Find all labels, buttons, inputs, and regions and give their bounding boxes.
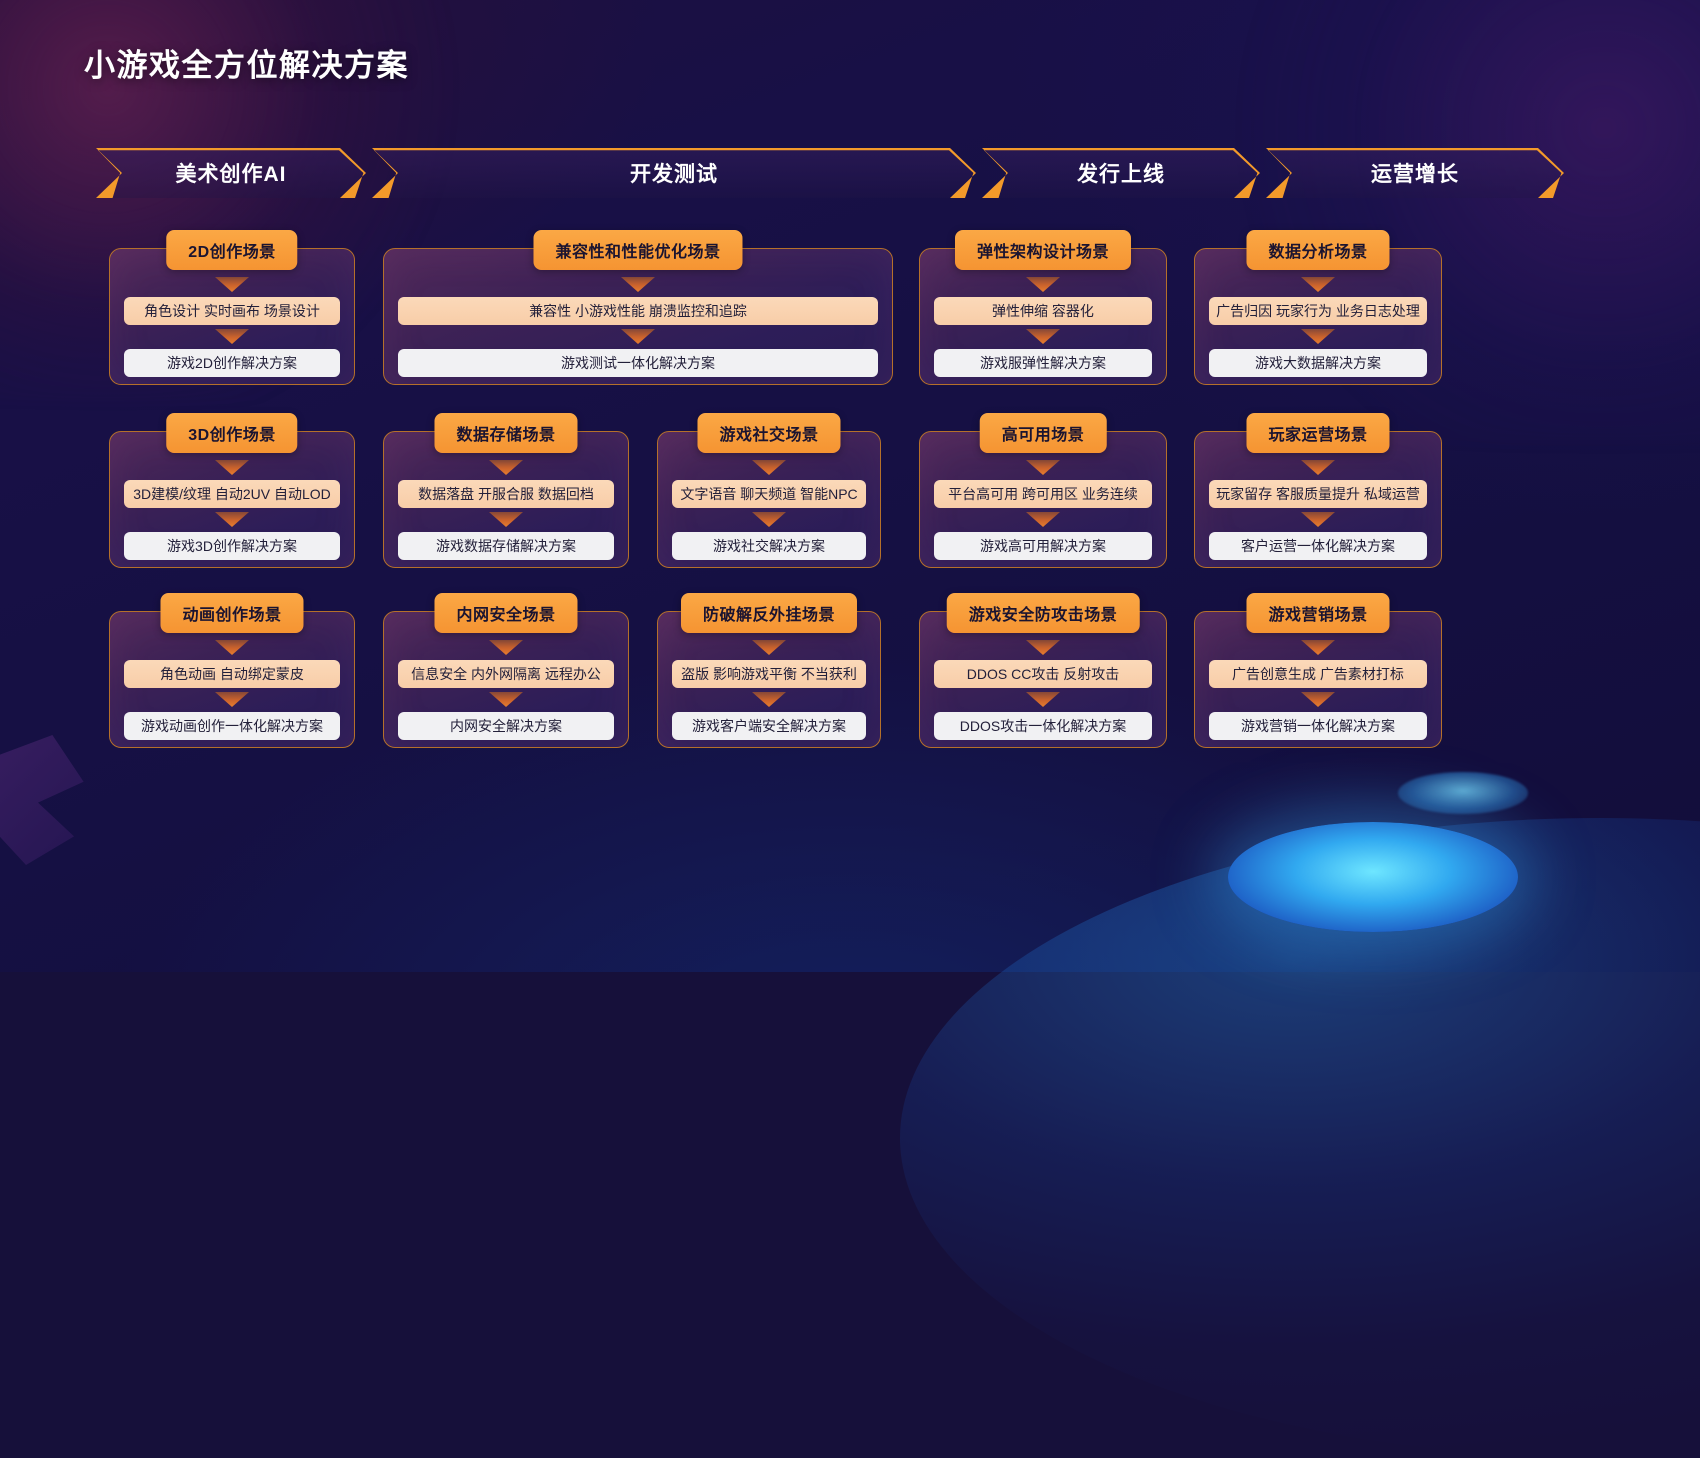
scene-title-pill[interactable]: 2D创作场景 [166, 230, 297, 270]
scene-title-pill[interactable]: 弹性架构设计场景 [955, 230, 1131, 270]
scene-title-pill[interactable]: 兼容性和性能优化场景 [533, 230, 742, 270]
scene-solution-label[interactable]: 游戏2D创作解决方案 [124, 349, 340, 377]
arrow-down-icon [1026, 512, 1060, 527]
scene-card[interactable]: 数据落盘 开服合服 数据回档游戏数据存储解决方案数据存储场景 [383, 431, 629, 568]
arrow-down-icon [752, 512, 786, 527]
scene-solution-label[interactable]: 游戏大数据解决方案 [1209, 349, 1427, 377]
scene-card[interactable]: 角色动画 自动绑定蒙皮游戏动画创作一体化解决方案动画创作场景 [109, 611, 355, 748]
arrow-down-icon [215, 640, 249, 655]
scene-capability-tags: 兼容性 小游戏性能 崩溃监控和追踪 [398, 297, 878, 325]
scene-solution-label[interactable]: 游戏客户端安全解决方案 [672, 712, 866, 740]
scene-capability-tags: 文字语音 聊天频道 智能NPC [672, 480, 866, 508]
scene-title-pill[interactable]: 数据分析场景 [1246, 230, 1389, 270]
scene-solution-label[interactable]: 游戏社交解决方案 [672, 532, 866, 560]
scene-capability-tags: 平台高可用 跨可用区 业务连续 [934, 480, 1152, 508]
scene-title-pill[interactable]: 防破解反外挂场景 [681, 593, 857, 633]
scene-card[interactable]: 广告归因 玩家行为 业务日志处理游戏大数据解决方案数据分析场景 [1194, 248, 1442, 385]
scene-card[interactable]: 弹性伸缩 容器化游戏服弹性解决方案弹性架构设计场景 [919, 248, 1167, 385]
arrow-down-icon [1026, 692, 1060, 707]
arrow-down-icon [752, 640, 786, 655]
scene-card[interactable]: DDOS CC攻击 反射攻击DDOS攻击一体化解决方案游戏安全防攻击场景 [919, 611, 1167, 748]
arrow-down-icon [1301, 512, 1335, 527]
arrow-down-icon [215, 512, 249, 527]
arrow-down-icon [621, 329, 655, 344]
arrow-down-icon [1301, 692, 1335, 707]
scene-solution-label[interactable]: 游戏服弹性解决方案 [934, 349, 1152, 377]
scene-capability-tags: 3D建模/纹理 自动2UV 自动LOD [124, 480, 340, 508]
scene-capability-tags: 玩家留存 客服质量提升 私域运营 [1209, 480, 1427, 508]
arrow-down-icon [752, 692, 786, 707]
arrow-down-icon [489, 692, 523, 707]
scene-title-pill[interactable]: 玩家运营场景 [1246, 413, 1389, 453]
scene-capability-tags: 广告归因 玩家行为 业务日志处理 [1209, 297, 1427, 325]
scene-card[interactable]: 角色设计 实时画布 场景设计游戏2D创作解决方案2D创作场景 [109, 248, 355, 385]
scene-title-pill[interactable]: 3D创作场景 [166, 413, 297, 453]
scene-card[interactable]: 文字语音 聊天频道 智能NPC游戏社交解决方案游戏社交场景 [657, 431, 881, 568]
arrow-down-icon [215, 692, 249, 707]
arrow-down-icon [215, 460, 249, 475]
scene-solution-label[interactable]: 游戏动画创作一体化解决方案 [124, 712, 340, 740]
arrow-down-icon [1026, 277, 1060, 292]
scene-title-pill[interactable]: 数据存储场景 [434, 413, 577, 453]
scene-card-grid: 角色设计 实时画布 场景设计游戏2D创作解决方案2D创作场景兼容性 小游戏性能 … [0, 0, 1700, 972]
scene-title-pill[interactable]: 内网安全场景 [434, 593, 577, 633]
scene-card[interactable]: 广告创意生成 广告素材打标游戏营销一体化解决方案游戏营销场景 [1194, 611, 1442, 748]
arrow-down-icon [1026, 640, 1060, 655]
scene-card[interactable]: 平台高可用 跨可用区 业务连续游戏高可用解决方案高可用场景 [919, 431, 1167, 568]
scene-card[interactable]: 玩家留存 客服质量提升 私域运营客户运营一体化解决方案玩家运营场景 [1194, 431, 1442, 568]
arrow-down-icon [1301, 640, 1335, 655]
arrow-down-icon [489, 460, 523, 475]
arrow-down-icon [489, 640, 523, 655]
scene-solution-label[interactable]: 游戏高可用解决方案 [934, 532, 1152, 560]
arrow-down-icon [489, 512, 523, 527]
scene-title-pill[interactable]: 高可用场景 [980, 413, 1107, 453]
scene-capability-tags: 弹性伸缩 容器化 [934, 297, 1152, 325]
arrow-down-icon [215, 277, 249, 292]
scene-title-pill[interactable]: 游戏营销场景 [1246, 593, 1389, 633]
scene-card[interactable]: 3D建模/纹理 自动2UV 自动LOD游戏3D创作解决方案3D创作场景 [109, 431, 355, 568]
arrow-down-icon [621, 277, 655, 292]
scene-capability-tags: 信息安全 内外网隔离 远程办公 [398, 660, 614, 688]
scene-solution-label[interactable]: DDOS攻击一体化解决方案 [934, 712, 1152, 740]
arrow-down-icon [215, 329, 249, 344]
scene-card[interactable]: 兼容性 小游戏性能 崩溃监控和追踪游戏测试一体化解决方案兼容性和性能优化场景 [383, 248, 893, 385]
scene-solution-label[interactable]: 游戏营销一体化解决方案 [1209, 712, 1427, 740]
arrow-down-icon [1301, 277, 1335, 292]
arrow-down-icon [1026, 460, 1060, 475]
scene-capability-tags: 盗版 影响游戏平衡 不当获利 [672, 660, 866, 688]
scene-capability-tags: 角色设计 实时画布 场景设计 [124, 297, 340, 325]
scene-solution-label[interactable]: 客户运营一体化解决方案 [1209, 532, 1427, 560]
arrow-down-icon [1026, 329, 1060, 344]
scene-card[interactable]: 信息安全 内外网隔离 远程办公内网安全解决方案内网安全场景 [383, 611, 629, 748]
scene-card[interactable]: 盗版 影响游戏平衡 不当获利游戏客户端安全解决方案防破解反外挂场景 [657, 611, 881, 748]
arrow-down-icon [752, 460, 786, 475]
scene-capability-tags: 角色动画 自动绑定蒙皮 [124, 660, 340, 688]
scene-solution-label[interactable]: 游戏测试一体化解决方案 [398, 349, 878, 377]
scene-title-pill[interactable]: 游戏安全防攻击场景 [947, 593, 1140, 633]
scene-solution-label[interactable]: 游戏数据存储解决方案 [398, 532, 614, 560]
scene-title-pill[interactable]: 游戏社交场景 [697, 413, 840, 453]
scene-solution-label[interactable]: 内网安全解决方案 [398, 712, 614, 740]
arrow-down-icon [1301, 329, 1335, 344]
scene-title-pill[interactable]: 动画创作场景 [160, 593, 303, 633]
scene-capability-tags: DDOS CC攻击 反射攻击 [934, 660, 1152, 688]
scene-solution-label[interactable]: 游戏3D创作解决方案 [124, 532, 340, 560]
scene-capability-tags: 广告创意生成 广告素材打标 [1209, 660, 1427, 688]
arrow-down-icon [1301, 460, 1335, 475]
scene-capability-tags: 数据落盘 开服合服 数据回档 [398, 480, 614, 508]
